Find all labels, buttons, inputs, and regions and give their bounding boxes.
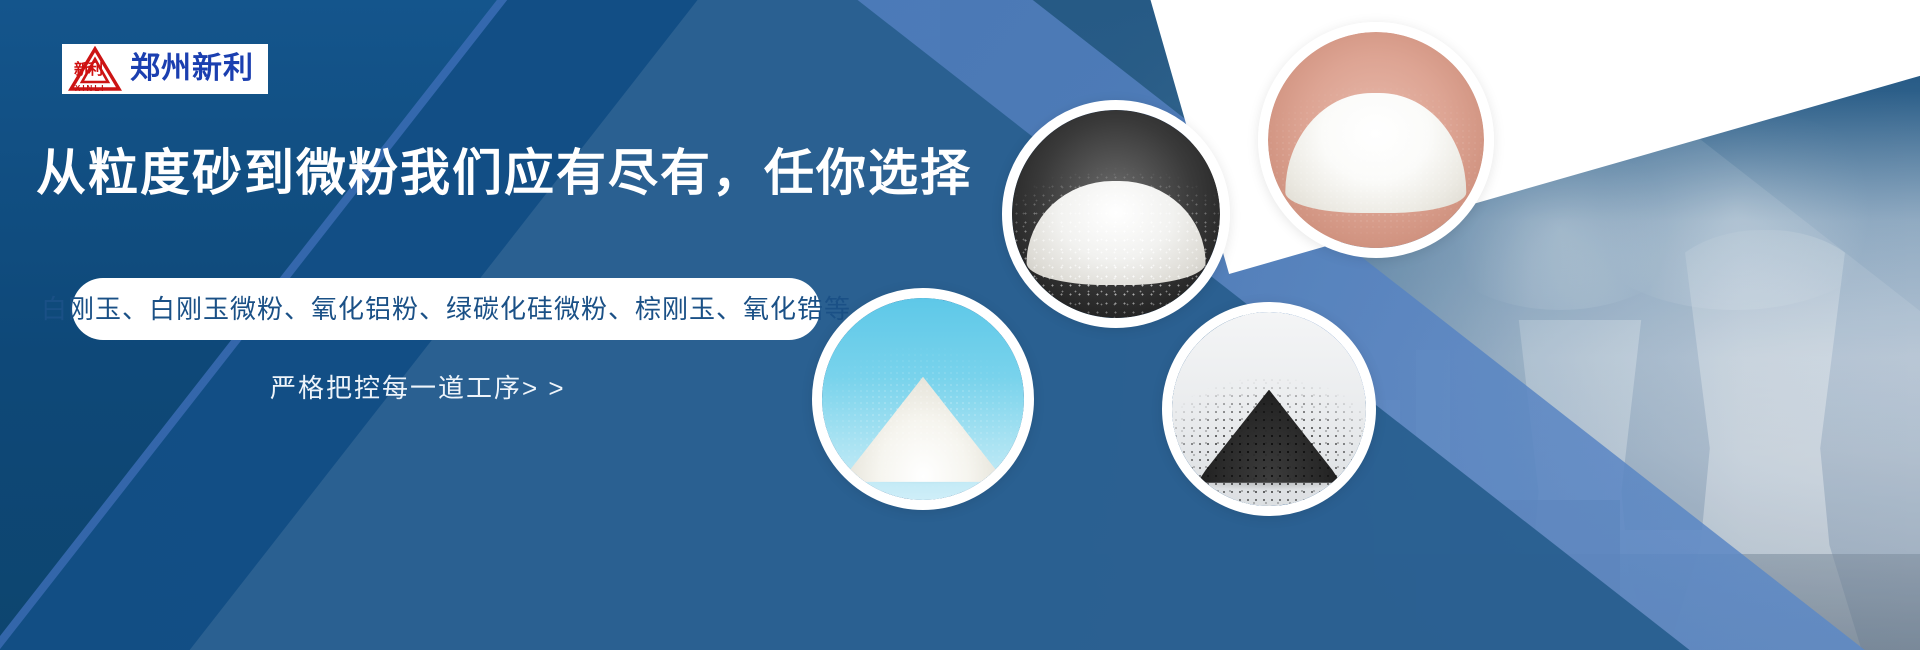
circle-image-inner [1172,312,1366,506]
product-circle-alumina-powder-cone[interactable] [812,288,1034,510]
powder-texture-overlay [1268,32,1484,248]
zhengzhou-xinli-logo[interactable]: 新利 XINLI 郑州新利 [62,44,268,94]
logo-mark-en-text: XINLI [75,85,105,93]
circle-image-inner [822,298,1024,500]
grain-speckle-overlay [1172,312,1366,506]
powder-texture-overlay [822,298,1024,500]
grain-speckle-overlay [1012,110,1220,318]
product-circle-white-micro-powder[interactable] [1258,22,1494,258]
product-list-text: 白刚玉、白刚玉微粉、氧化铝粉、绿碳化硅微粉、棕刚玉、氧化锆等 [41,296,851,322]
logo-company-name: 郑州新利 [130,54,254,84]
page-title: 从粒度砂到微粉我们应有尽有，任你选择 [36,146,972,201]
logo-mark-cn-text: 新利 [74,62,102,77]
hero-banner: 新利 XINLI 郑州新利 从粒度砂到微粉我们应有尽有，任你选择 白刚玉、白刚玉… [0,0,1920,650]
product-circle-green-silicon-carbide-grit[interactable] [1162,302,1376,516]
product-circle-white-fused-alumina-grit[interactable] [1002,100,1230,328]
process-quality-link[interactable]: 严格把控每一道工序> > [270,375,566,401]
triangle-logo-icon: 新利 XINLI [68,46,122,92]
circle-image-inner [1268,32,1484,248]
product-list-pill[interactable]: 白刚玉、白刚玉微粉、氧化铝粉、绿碳化硅微粉、棕刚玉、氧化锆等 [72,278,820,340]
circle-image-inner [1012,110,1220,318]
